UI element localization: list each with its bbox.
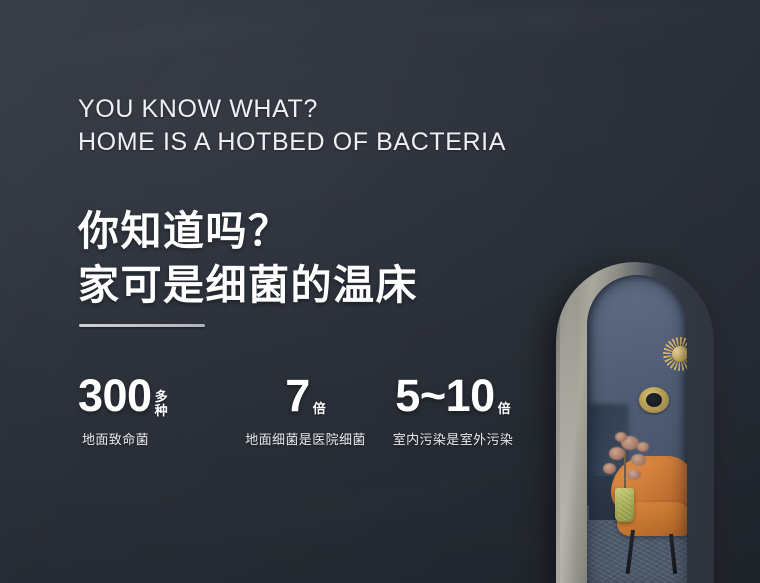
stat-unit: 多种 bbox=[155, 390, 169, 417]
stat-caption: 室内污染是室外污染 bbox=[388, 431, 518, 448]
arched-mirror-photo bbox=[556, 262, 714, 583]
stat-caption: 地面细菌是医院细菌 bbox=[223, 431, 388, 448]
page-title: 你知道吗？ 家可是细菌的温床 bbox=[78, 204, 418, 312]
plant-bloom bbox=[637, 442, 649, 452]
plant-bloom bbox=[615, 432, 627, 442]
plant-vase bbox=[615, 488, 634, 522]
eyebrow-heading: YOU KNOW WHAT? HOME IS A HOTBED OF BACTE… bbox=[78, 93, 506, 159]
stat-number: 300 bbox=[78, 373, 152, 418]
headline-line-1: 你知道吗？ bbox=[78, 208, 291, 254]
headline-line-2: 家可是细菌的温床 bbox=[78, 258, 418, 312]
stat-figure: 300 多种 bbox=[78, 372, 223, 418]
plant-bloom bbox=[627, 469, 641, 480]
plant-stem bbox=[624, 450, 626, 492]
stat-unit: 倍 bbox=[313, 402, 326, 415]
stat-number: 7 bbox=[285, 373, 310, 418]
stat-caption: 地面致命菌 bbox=[78, 431, 223, 448]
text-column: YOU KNOW WHAT? HOME IS A HOTBED OF BACTE… bbox=[78, 0, 548, 583]
stat-unit: 倍 bbox=[498, 402, 511, 415]
stat-item: 300 多种 地面致命菌 bbox=[78, 372, 223, 448]
sunburst-mirror-decor bbox=[663, 337, 687, 371]
eyebrow-line-1: YOU KNOW WHAT? bbox=[78, 95, 318, 123]
stat-item: 7 倍 地面细菌是医院细菌 bbox=[223, 372, 388, 448]
plant-bloom bbox=[609, 447, 625, 460]
stat-item: 5~10 倍 室内污染是室外污染 bbox=[388, 372, 518, 448]
stat-figure: 5~10 倍 bbox=[388, 372, 518, 418]
stat-number: 5~10 bbox=[395, 373, 494, 418]
stats-row: 300 多种 地面致命菌 7 倍 地面细菌是医院细菌 5~10 倍 室内污染是室… bbox=[78, 372, 518, 448]
eyebrow-line-2: HOME IS A HOTBED OF BACTERIA bbox=[78, 126, 506, 159]
divider bbox=[79, 324, 205, 327]
plant-bloom bbox=[631, 454, 646, 466]
round-mirror-decor bbox=[639, 387, 669, 413]
poster: YOU KNOW WHAT? HOME IS A HOTBED OF BACTE… bbox=[0, 0, 760, 583]
stat-figure: 7 倍 bbox=[223, 372, 388, 418]
mirror-reflection bbox=[587, 275, 687, 583]
plant-bloom bbox=[603, 463, 616, 474]
sunburst-disc bbox=[672, 346, 687, 362]
